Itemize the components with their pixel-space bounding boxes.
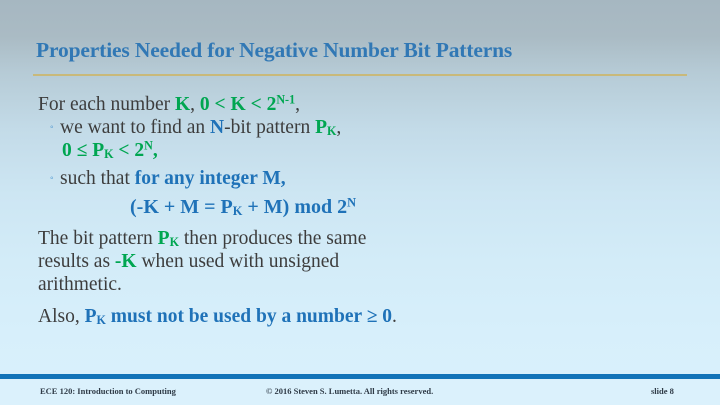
title-divider: [33, 74, 687, 76]
slide-canvas: Properties Needed for Negative Number Bi…: [0, 0, 720, 405]
slide-body: For each number K, 0 < K < 2N-1, ◦we wan…: [38, 93, 698, 328]
body-paragraph-2: Also, PK must not be used by a number ≥ …: [38, 305, 698, 328]
bullet1-mid: -bit pattern: [224, 117, 315, 138]
bullet1cont-expr-subscript: K: [104, 147, 113, 161]
para1-var-p: P: [158, 228, 170, 249]
line1-inequality: 0 < K < 2: [200, 94, 276, 115]
line1-lead: For each number: [38, 94, 175, 115]
body-paragraph-1-line-3: arithmetic.: [38, 273, 698, 296]
para2-var-p-subscript: K: [97, 313, 106, 327]
line1-var-k: K: [175, 94, 190, 115]
bullet-circle-icon: ◦: [50, 116, 60, 139]
bullet2-lead: such that: [60, 168, 135, 189]
line1-comma: ,: [190, 94, 200, 115]
line1-inequality-exponent: N-1: [276, 93, 295, 107]
footer-copyright: © 2016 Steven S. Lumetta. All rights res…: [266, 386, 433, 396]
body-line-1: For each number K, 0 < K < 2N-1,: [38, 93, 698, 116]
bullet1-var-p: P: [315, 117, 327, 138]
bullet2-emphasis: for any integer M: [135, 168, 281, 189]
para2-tail: .: [392, 306, 397, 327]
bullet1cont-expr: 0 ≤ P: [62, 140, 104, 161]
para1-seg3: results as: [38, 251, 115, 272]
body-formula: (-K + M = PK + M) mod 2N: [38, 196, 698, 219]
para2-emphasis: must not be used by a number ≥ 0: [106, 306, 392, 327]
line1-tail: ,: [295, 94, 300, 115]
para1-var-neg-k: -K: [115, 251, 137, 272]
formula-part-a: (-K + M = P: [130, 196, 233, 218]
formula-part-b: + M) mod 2: [242, 196, 347, 218]
body-bullet-1: ◦we want to find an N-bit pattern PK,: [38, 116, 698, 139]
para2-var-p: P: [85, 306, 97, 327]
para2-lead: Also,: [38, 306, 85, 327]
footer-course-label: ECE 120: Introduction to Computing: [40, 386, 176, 396]
para1-seg4: when used with unsigned: [137, 251, 340, 272]
bullet1-var-p-subscript: K: [327, 124, 336, 138]
bullet1-tail: ,: [336, 117, 341, 138]
body-paragraph-1-line-2: results as -K when used with unsigned: [38, 250, 698, 273]
bullet1cont-expr-mid: < 2: [114, 140, 145, 161]
para1-var-p-subscript: K: [170, 235, 179, 249]
bullet2-tail: ,: [281, 168, 286, 189]
bullet1cont-tail: ,: [153, 140, 158, 161]
bullet-circle-icon: ◦: [50, 167, 60, 190]
spacer-2: [38, 296, 698, 305]
para1-seg2: then produces the same: [179, 228, 366, 249]
bullet1cont-expr-exponent: N: [144, 139, 153, 153]
formula-subscript: K: [233, 204, 243, 218]
page-title: Properties Needed for Negative Number Bi…: [36, 38, 696, 63]
bullet1-var-n: N: [210, 117, 224, 138]
formula-exponent: N: [347, 196, 356, 210]
body-paragraph-1-line-1: The bit pattern PK then produces the sam…: [38, 227, 698, 250]
footer-slide-number: slide 8: [651, 386, 674, 396]
para1-seg1: The bit pattern: [38, 228, 158, 249]
body-bullet-1-continuation: 0 ≤ PK < 2N,: [38, 139, 698, 162]
bullet1-lead: we want to find an: [60, 117, 210, 138]
body-bullet-2: ◦such that for any integer M,: [38, 167, 698, 190]
